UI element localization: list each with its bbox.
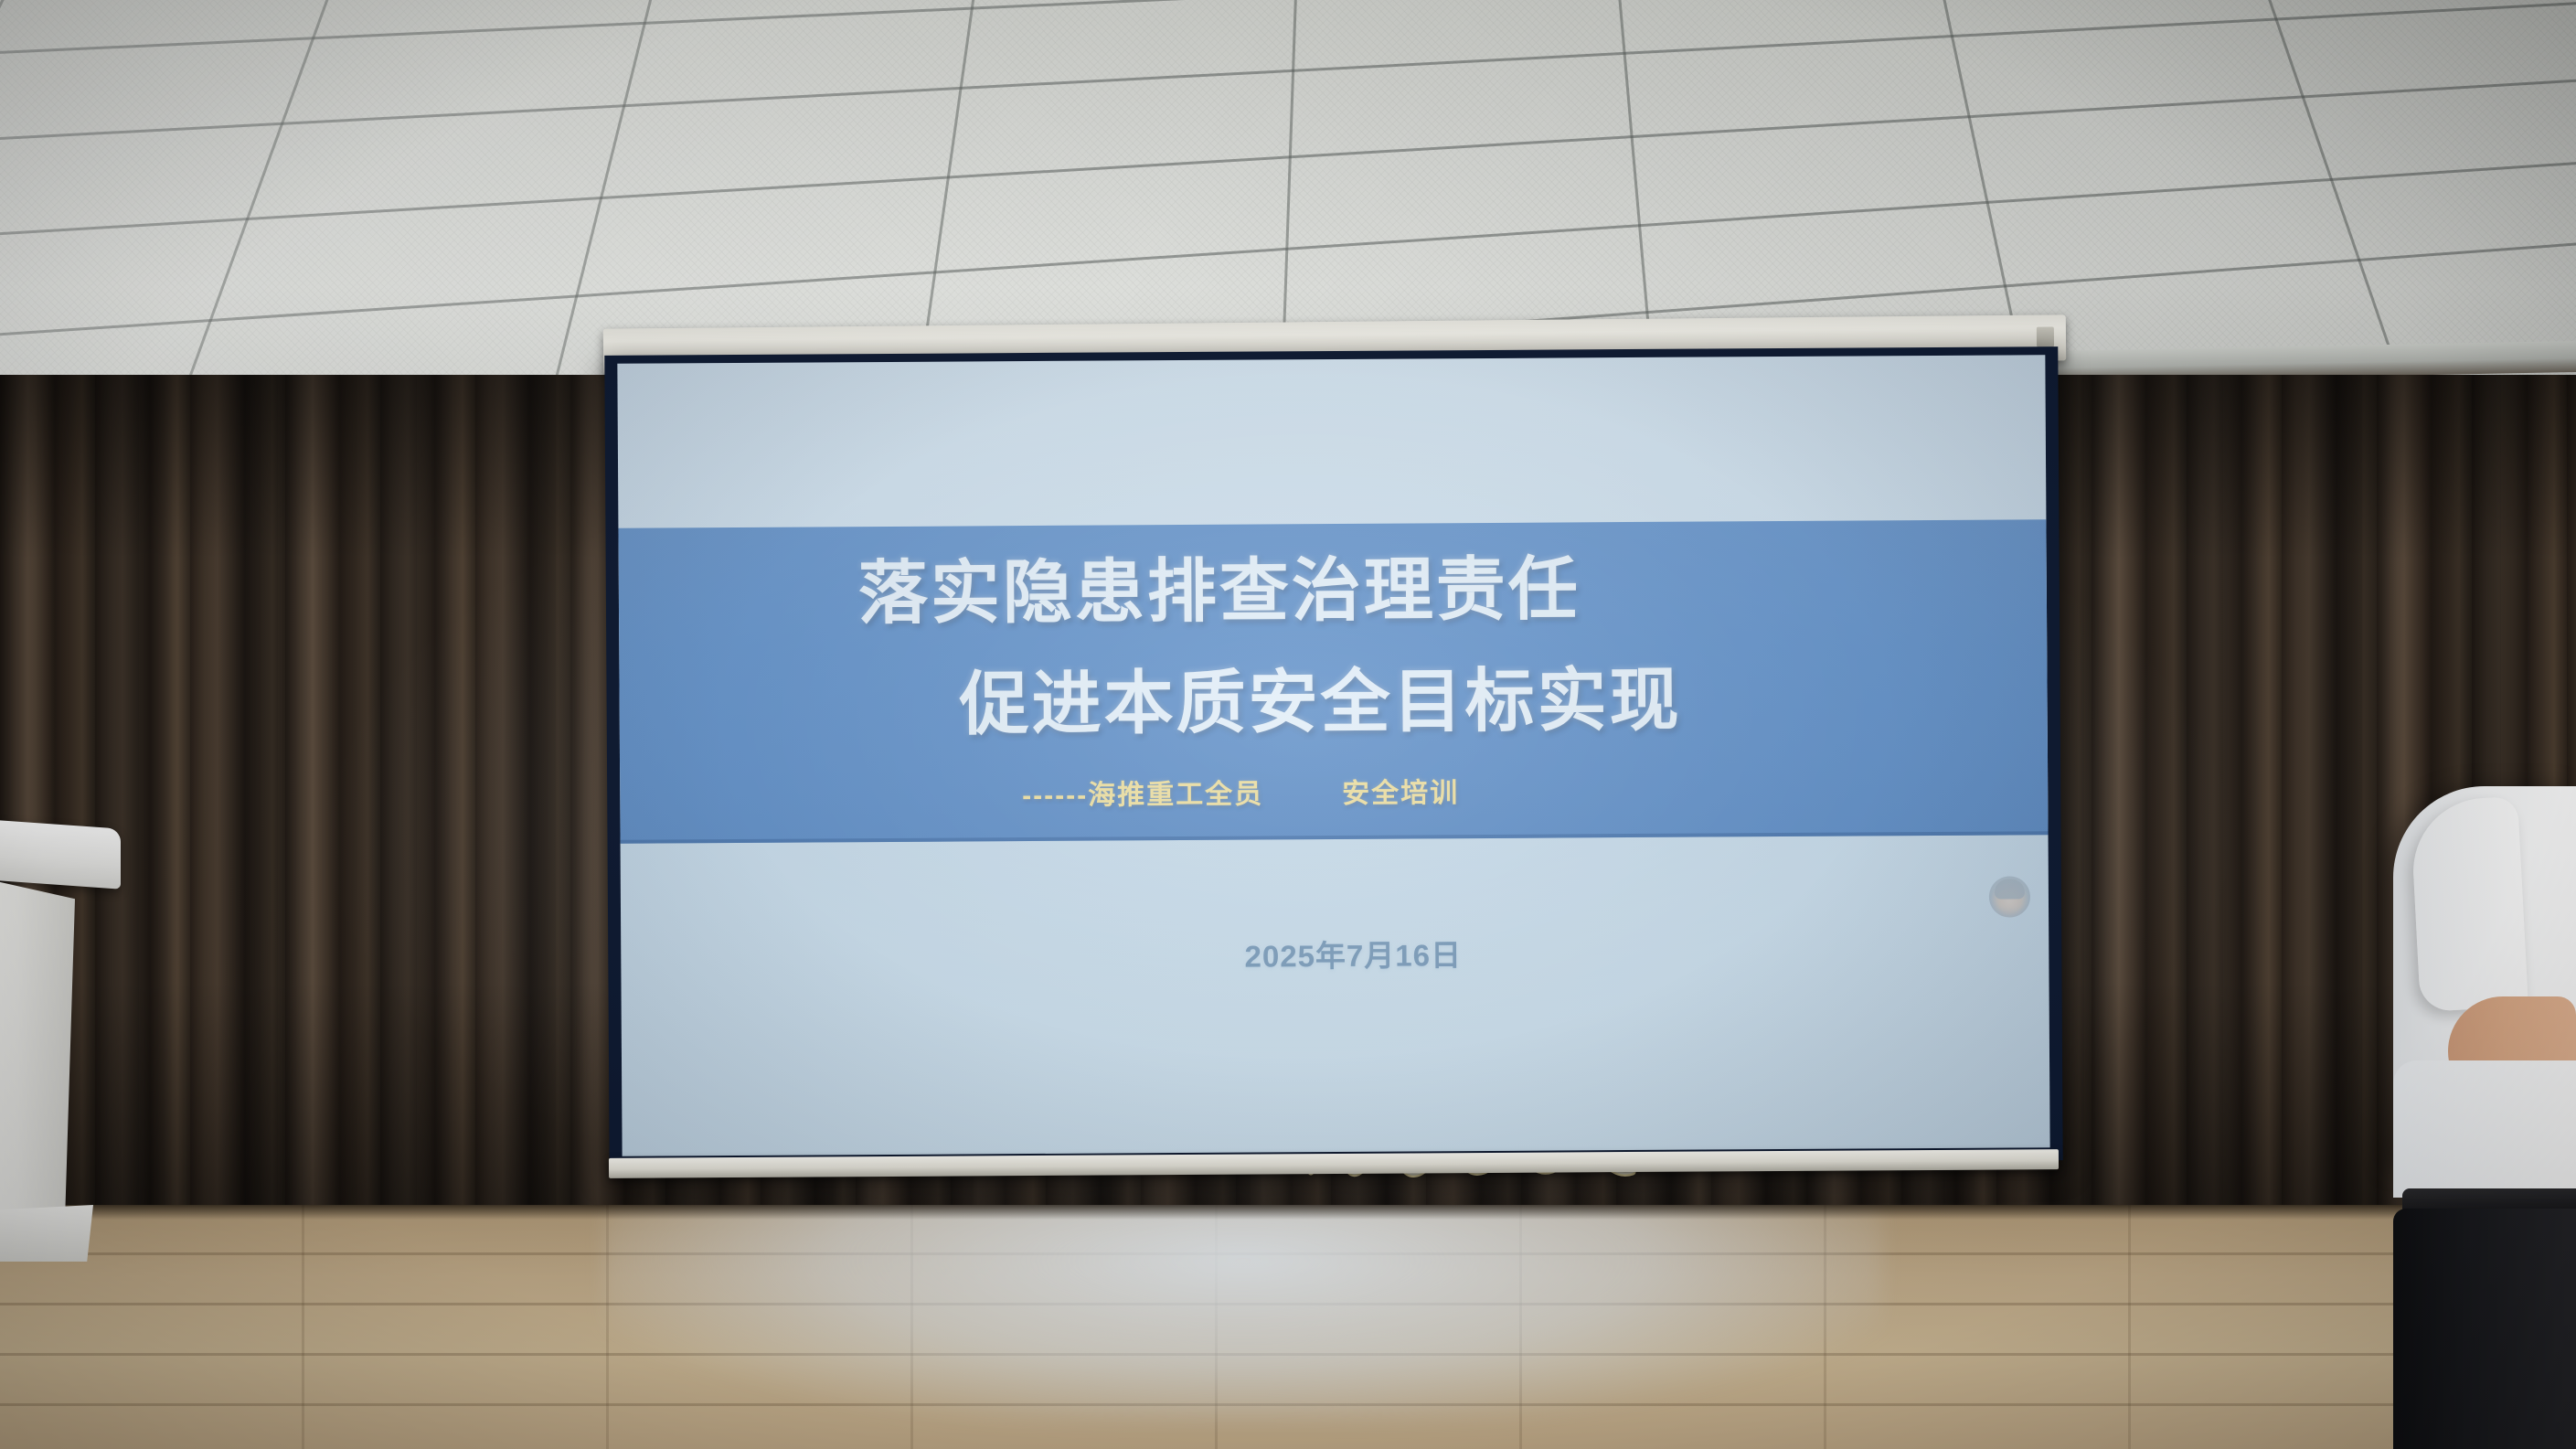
slide-date-text: 2025年7月16日: [1244, 931, 1462, 975]
slide-date: 2025年7月16日: [621, 927, 2049, 980]
slide-title-band: 落实隐患排查治理责任 促进本质安全目标实现 ------海推重工全员 安全培训: [618, 519, 2048, 844]
attendee-person: [2393, 768, 2576, 1449]
slide-subtitle-row: ------海推重工全员 安全培训: [1022, 768, 1717, 813]
title-band-edge: [621, 831, 2049, 844]
avatar-hair: [1995, 879, 2025, 899]
lectern: [0, 823, 121, 1280]
person-trousers: [2393, 1209, 2576, 1449]
slide-subtitle-right: 安全培训: [1342, 770, 1459, 811]
lectern-top: [0, 816, 121, 889]
projector-light-spill: [603, 1205, 1883, 1421]
conference-room-scene: 落实隐患排查治理责任 促进本质安全目标实现 ------海推重工全员 安全培训 …: [0, 0, 2576, 1449]
slide-subtitle-left: ------海推重工全员: [1022, 771, 1263, 813]
person-torso: [2393, 1060, 2576, 1198]
slide-title-line-2: 促进本质安全目标实现: [959, 666, 1681, 740]
projection-screen: 落实隐患排查治理责任 促进本质安全目标实现 ------海推重工全员 安全培训 …: [604, 346, 2062, 1169]
floor: [0, 1205, 2576, 1449]
roller-screen-endcap: [2037, 326, 2054, 346]
slide-surface: 落实隐患排查治理责任 促进本质安全目标实现 ------海推重工全员 安全培训 …: [617, 355, 2049, 1156]
slide-title-line-1: 落实隐患排查治理责任: [858, 555, 1581, 629]
presenter-avatar-icon: [1989, 876, 2030, 917]
lectern-body: [0, 870, 75, 1227]
floor-wall-shadow: [0, 1205, 2576, 1220]
person-sleeve: [2410, 796, 2528, 1012]
lectern-base: [0, 1205, 93, 1262]
